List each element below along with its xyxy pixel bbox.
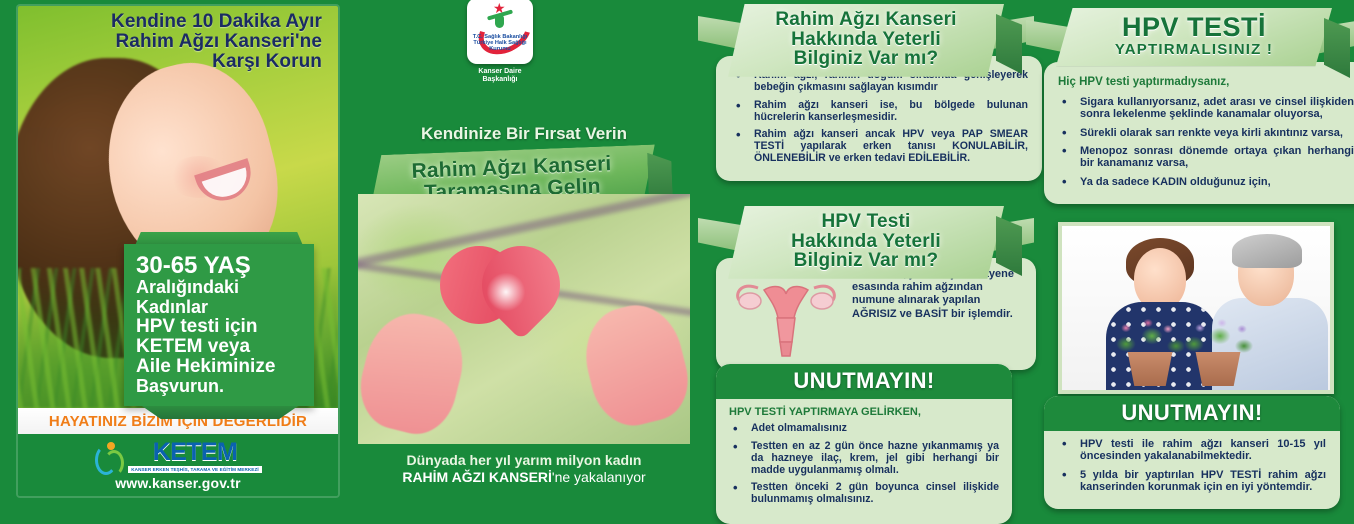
reminder-pill-right: UNUTMAYIN! xyxy=(1044,396,1340,431)
hands-heart-photo xyxy=(358,194,690,444)
list-item: Testten en az 2 gün önce hazne yıkanmamı… xyxy=(729,441,999,477)
center-footer-line-2: RAHİM AĞZI KANSERİ'ne yakalanıyor xyxy=(352,469,696,486)
list-item: Testten önceki 2 gün boyunca cinsel iliş… xyxy=(729,482,999,506)
callout-line-7: Başvurun. xyxy=(136,377,302,396)
reminder-title: UNUTMAYIN! xyxy=(1121,400,1262,425)
ribbon-plate: Rahim Ağzı Kanseri Hakkında Yeterli Bilg… xyxy=(728,4,1004,77)
plant-blooms-1 xyxy=(1114,316,1180,338)
center-footer-strong: RAHİM AĞZI KANSERİ xyxy=(402,469,552,485)
hpv-indications-lead: Hiç HPV testi yaptırmadıysanız, xyxy=(1058,76,1354,88)
ministry-line-3: Kurumu xyxy=(467,46,533,52)
callout-line-4: HPV testi için xyxy=(136,317,302,337)
ribbon-line-3: Bilginiz Var mı? xyxy=(750,49,982,69)
reminder-bullet-list: Adet olmamalısınız Testten en az 2 gün ö… xyxy=(729,423,999,506)
list-item: HPV testi ile rahim ağzı kanseri 10-15 y… xyxy=(1058,438,1326,463)
reminder-title: UNUTMAYIN! xyxy=(793,368,934,393)
center-footer-rest: 'ne yakalanıyor xyxy=(552,469,646,485)
list-item: 5 yılda bir yaptırılan HPV TESTİ rahim a… xyxy=(1058,469,1326,494)
callout-line-1: 30-65 YAŞ xyxy=(136,253,302,278)
list-item: Menopoz sonrası dönemde ortaya çıkan her… xyxy=(1058,145,1354,170)
list-item: Sigara kullanıyorsanız, adet arası ve ci… xyxy=(1058,96,1354,121)
cervical-cancer-bullet-list: Rahim ağzı, rahmin doğum sırasında geniş… xyxy=(732,70,1028,165)
reminder-card-right: UNUTMAYIN! HPV testi ile rahim ağzı kans… xyxy=(1044,396,1340,509)
hpv-indications-bullet-list: Sigara kullanıyorsanız, adet arası ve ci… xyxy=(1058,96,1354,188)
ketem-tagline: KANSER ERKEN TEŞHİS, TARAMA VE EĞİTİM ME… xyxy=(128,466,262,473)
list-item: Ya da sadece KADIN olduğunuz için, xyxy=(1058,176,1354,188)
ketem-wordmark-box: KETEM KANSER ERKEN TEŞHİS, TARAMA VE EĞİ… xyxy=(128,440,262,473)
ribbon-line-1: HPV Testi xyxy=(750,212,982,232)
brochure-poster: Kendine 10 Dakika Ayır Rahim Ağzı Kanser… xyxy=(0,0,1354,502)
heart-sparkle xyxy=(484,270,528,314)
department-label: Kanser Daire Başkanlığı xyxy=(462,68,538,84)
ribbon-line-2: Hakkında Yeterli xyxy=(750,30,982,50)
callout-line-5: KETEM veya xyxy=(136,337,302,357)
age-range-callout: 30-65 YAŞ Aralığındaki Kadınlar HPV test… xyxy=(124,244,314,406)
ribbon-plate: HPV TESTİ YAPTIRMALISINIZ ! xyxy=(1056,8,1332,66)
reminder-card-left: UNUTMAYIN! HPV TESTİ YAPTIRMAYA GELİRKEN… xyxy=(716,364,1012,524)
ketem-wordmark: KETEM xyxy=(153,440,238,465)
left-headline: Kendine 10 Dakika Ayır Rahim Ağzı Kanser… xyxy=(70,12,322,72)
center-footer: Dünyada her yıl yarım milyon kadın RAHİM… xyxy=(352,452,696,486)
ribbon-title: HPV Testi Hakkında Yeterli Bilginiz Var … xyxy=(750,212,982,271)
list-item: Rahim ağzı kanseri ise, bu bölgede bulun… xyxy=(732,100,1028,124)
ribbon-line-2: Hakkında Yeterli xyxy=(750,232,982,252)
panel-center: ★ T.C. Sağlık Bakanlığı Türkiye Halk Sağ… xyxy=(352,0,696,502)
ketem-logo: KETEM KANSER ERKEN TEŞHİS, TARAMA VE EĞİ… xyxy=(94,440,262,473)
list-item: Sürekli olarak sarı renkte veya kirli ak… xyxy=(1058,127,1354,139)
ketem-figure-icon xyxy=(94,441,124,471)
older-couple-photo xyxy=(1058,222,1334,394)
ribbon-title: HPV TESTİ YAPTIRMALISINIZ ! xyxy=(1078,14,1310,58)
reminder-bullet-list-right: HPV testi ile rahim ağzı kanseri 10-15 y… xyxy=(1058,438,1326,493)
ribbon-plate: HPV Testi Hakkında Yeterli Bilginiz Var … xyxy=(728,206,1004,279)
ministry-logo-plate: ★ T.C. Sağlık Bakanlığı Türkiye Halk Sağ… xyxy=(467,0,533,64)
hpv-indications-card: Hiç HPV testi yaptırmadıysanız, Sigara k… xyxy=(1044,62,1354,204)
ribbon-line-1: HPV TESTİ xyxy=(1078,14,1310,41)
callout-line-3: Kadınlar xyxy=(136,298,302,317)
left-headline-line-2: Rahim Ağzı Kanseri'ne xyxy=(70,32,322,52)
callout-line-6: Aile Hekiminize xyxy=(136,357,302,377)
man-hair-shape xyxy=(1232,234,1302,268)
list-item: Adet olmamalısınız xyxy=(729,423,999,435)
ribbon-line-1: Rahim Ağzı Kanseri xyxy=(750,10,982,30)
callout-line-2: Aralığındaki xyxy=(136,278,302,297)
uterus-diagram-icon xyxy=(728,268,844,360)
ribbon-line-2: YAPTIRMALISINIZ ! xyxy=(1078,41,1310,58)
plant-blooms-2 xyxy=(1188,316,1254,338)
left-headline-line-1: Kendine 10 Dakika Ayır xyxy=(70,12,322,32)
reminder-pill-left: UNUTMAYIN! xyxy=(716,364,1012,399)
list-item: Rahim ağzı kanseri ancak HPV veya PAP SM… xyxy=(732,129,1028,165)
callout-body: 30-65 YAŞ Aralığındaki Kadınlar HPV test… xyxy=(124,244,314,406)
ribbon-title: Rahim Ağzı Kanseri Hakkında Yeterli Bilg… xyxy=(750,10,982,69)
hpv-test-ribbon: HPV Testi Hakkında Yeterli Bilginiz Var … xyxy=(728,206,1004,279)
ketem-green-arc xyxy=(104,450,124,476)
ministry-of-health-logo: ★ T.C. Sağlık Bakanlığı Türkiye Halk Sağ… xyxy=(462,0,538,84)
center-footer-line-1: Dünyada her yıl yarım milyon kadın xyxy=(352,452,696,469)
woman-head-shape xyxy=(1134,248,1186,310)
reminder-lead: HPV TESTİ YAPTIRMAYA GELİRKEN, xyxy=(729,406,999,418)
cervical-cancer-ribbon: Rahim Ağzı Kanseri Hakkında Yeterli Bilg… xyxy=(728,4,1004,77)
hand-right-shape xyxy=(575,296,690,434)
ribbon-line-3: Bilginiz Var mı? xyxy=(750,251,982,271)
hpv-test-cta-ribbon: HPV TESTİ YAPTIRMALISINIZ ! xyxy=(1056,8,1332,66)
center-subtitle: Kendinize Bir Fırsat Verin xyxy=(352,124,696,144)
panel-left-poster: Kendine 10 Dakika Ayır Rahim Ağzı Kanser… xyxy=(18,6,338,496)
website-url[interactable]: www.kanser.gov.tr xyxy=(115,475,241,491)
left-headline-line-3: Karşı Korun xyxy=(70,52,322,72)
left-footer: KETEM KANSER ERKEN TEŞHİS, TARAMA VE EĞİ… xyxy=(18,434,338,496)
department-line-1: Kanser Daire xyxy=(462,68,538,76)
department-line-2: Başkanlığı xyxy=(462,76,538,84)
